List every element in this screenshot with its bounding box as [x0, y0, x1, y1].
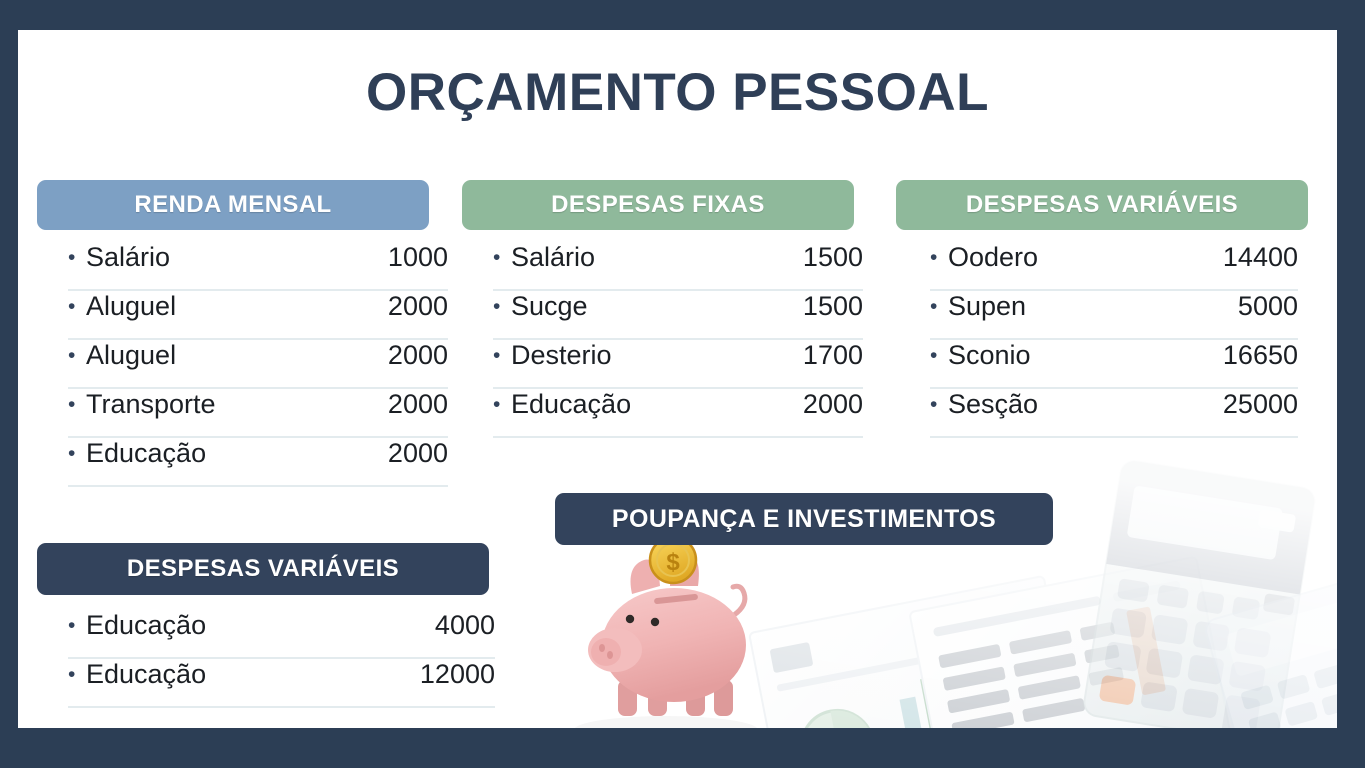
item-label: Aluguel: [86, 291, 374, 322]
bullet-icon: •: [68, 247, 86, 268]
bullet-icon: •: [68, 394, 86, 415]
item-value: 2000: [374, 340, 448, 371]
item-value: 12000: [406, 659, 495, 690]
list-item: • Sesção 25000: [930, 389, 1298, 438]
list-item: • Supen 5000: [930, 291, 1298, 340]
list-item: • Oodero 14400: [930, 242, 1298, 291]
item-value: 4000: [421, 610, 495, 641]
bullet-icon: •: [493, 394, 511, 415]
list-item: • Educação 2000: [493, 389, 863, 438]
item-value: 2000: [789, 389, 863, 420]
section-header-label: POUPANÇA E INVESTIMENTOS: [612, 505, 996, 534]
item-value: 2000: [374, 389, 448, 420]
item-value: 5000: [1224, 291, 1298, 322]
financial-documents-icon: [749, 557, 1234, 728]
item-value: 1500: [789, 242, 863, 273]
bullet-icon: •: [68, 296, 86, 317]
list-despesas-variaveis-2: • Educação 4000 • Educação 12000: [68, 610, 495, 708]
page-title: ORÇAMENTO PESSOAL: [18, 62, 1337, 123]
section-header-label: RENDA MENSAL: [134, 191, 331, 219]
list-despesas-variaveis: • Oodero 14400 • Supen 5000 • Sconio 166…: [930, 242, 1298, 438]
item-value: 1700: [789, 340, 863, 371]
item-label: Educação: [86, 438, 374, 469]
bullet-icon: •: [493, 345, 511, 366]
item-label: Educação: [511, 389, 789, 420]
list-despesas-fixas: • Salário 1500 • Sucge 1500 • Desterio 1…: [493, 242, 863, 438]
section-header-label: DESPESAS FIXAS: [551, 191, 765, 219]
calculator-icon: [1203, 578, 1337, 728]
item-value: 2000: [374, 438, 448, 469]
item-label: Supen: [948, 291, 1224, 322]
item-label: Educação: [86, 610, 421, 641]
section-header-renda-mensal: RENDA MENSAL: [37, 180, 429, 230]
list-item: • Transporte 2000: [68, 389, 448, 438]
list-item: • Sucge 1500: [493, 291, 863, 340]
item-label: Salário: [511, 242, 789, 273]
item-label: Transporte: [86, 389, 374, 420]
list-item: • Salário 1500: [493, 242, 863, 291]
item-label: Salário: [86, 242, 374, 273]
bullet-icon: •: [68, 615, 86, 636]
item-label: Sucge: [511, 291, 789, 322]
section-header-label: DESPESAS VARIÁVEIS: [966, 191, 1238, 219]
bullet-icon: •: [493, 296, 511, 317]
bullet-icon: •: [68, 443, 86, 464]
bullet-icon: •: [930, 247, 948, 268]
list-item: • Aluguel 2000: [68, 291, 448, 340]
section-header-label: DESPESAS VARIÁVEIS: [127, 555, 399, 583]
bullet-icon: •: [68, 664, 86, 685]
item-label: Oodero: [948, 242, 1209, 273]
item-value: 1000: [374, 242, 448, 273]
slide-card: $ ORÇAMENTO PESSOAL RENDA MENSAL • Salár…: [18, 30, 1337, 728]
list-item: • Sconio 16650: [930, 340, 1298, 389]
bullet-icon: •: [493, 247, 511, 268]
item-value: 25000: [1209, 389, 1298, 420]
item-label: Educação: [86, 659, 406, 690]
list-item: • Salário 1000: [68, 242, 448, 291]
item-label: Sesção: [948, 389, 1209, 420]
svg-text:$: $: [666, 549, 680, 576]
item-value: 14400: [1209, 242, 1298, 273]
calculator-icon: [1082, 459, 1316, 728]
list-item: • Educação 4000: [68, 610, 495, 659]
list-item: • Aluguel 2000: [68, 340, 448, 389]
item-value: 1500: [789, 291, 863, 322]
piggy-bank-icon: $: [574, 537, 758, 728]
list-item: • Educação 12000: [68, 659, 495, 708]
section-header-despesas-fixas: DESPESAS FIXAS: [462, 180, 854, 230]
bullet-icon: •: [930, 296, 948, 317]
item-label: Desterio: [511, 340, 789, 371]
slide-frame: $ ORÇAMENTO PESSOAL RENDA MENSAL • Salár…: [0, 0, 1365, 768]
section-header-poupanca-investimentos: POUPANÇA E INVESTIMENTOS: [555, 493, 1053, 545]
list-item: • Desterio 1700: [493, 340, 863, 389]
item-value: 16650: [1209, 340, 1298, 371]
bullet-icon: •: [68, 345, 86, 366]
item-label: Aluguel: [86, 340, 374, 371]
item-label: Sconio: [948, 340, 1209, 371]
list-item: • Educação 2000: [68, 438, 448, 487]
list-renda-mensal: • Salário 1000 • Aluguel 2000 • Aluguel …: [68, 242, 448, 487]
section-header-despesas-variaveis: DESPESAS VARIÁVEIS: [896, 180, 1308, 230]
item-value: 2000: [374, 291, 448, 322]
bullet-icon: •: [930, 345, 948, 366]
section-header-despesas-variaveis-2: DESPESAS VARIÁVEIS: [37, 543, 489, 595]
bullet-icon: •: [930, 394, 948, 415]
